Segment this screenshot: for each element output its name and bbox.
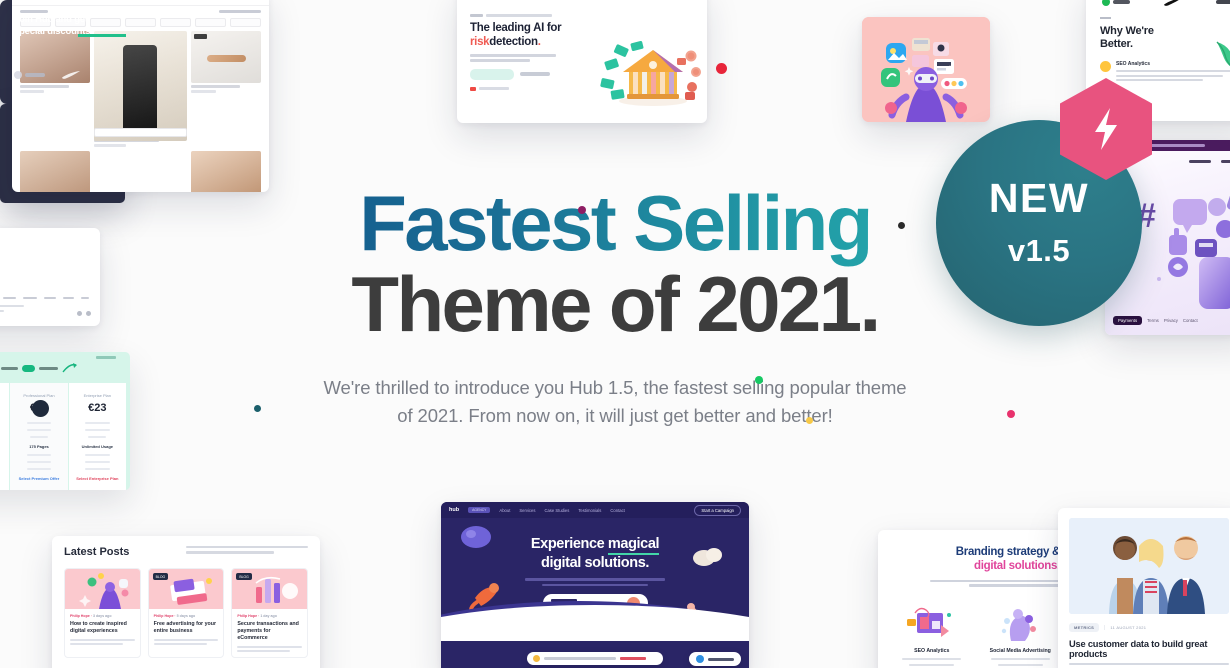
plan-cta[interactable]: Select xyxy=(0,476,3,481)
fashion-product-grid[interactable] xyxy=(12,31,269,192)
ai-eyebrow xyxy=(470,14,694,17)
headline-line-1: Fastest Selling xyxy=(359,179,871,267)
dot-magenta xyxy=(578,206,586,214)
team-3d-illustration xyxy=(1069,518,1229,614)
hero-stage: M A R C H E T xyxy=(0,0,1230,668)
magic-nav-item[interactable]: Services xyxy=(519,508,535,513)
ai-secondary-button[interactable] xyxy=(520,72,550,76)
blog-card-tag: BLOG xyxy=(236,573,251,580)
vr-3d-illustration xyxy=(862,17,990,122)
brand-inner: Branding strategy & digital solutions. xyxy=(878,530,1074,666)
product-card[interactable] xyxy=(20,31,90,147)
magic-blob-icon xyxy=(459,524,493,550)
blog-card-body: Philip Hope · 3 days ago How to create i… xyxy=(65,609,140,650)
dot-yellow xyxy=(806,417,813,424)
magical-digital-solutions-mockup[interactable]: hub AGENCY About Services Case Studies T… xyxy=(441,502,749,668)
blog-card-tag: BLOG xyxy=(153,573,168,580)
vr-pink-card-mockup[interactable] xyxy=(862,17,990,122)
plan-cta[interactable]: Select Premium Offer xyxy=(16,476,61,481)
ai-risk-detection-mockup[interactable]: The leading AI for riskdetection. xyxy=(457,0,707,123)
blog-card[interactable]: Philip Hope · 3 days ago How to create i… xyxy=(64,568,141,658)
product-card-featured[interactable] xyxy=(94,31,188,147)
brand-body xyxy=(930,580,1060,587)
blog-illustration-1 xyxy=(65,569,141,609)
social-hand-illustration xyxy=(981,605,1061,643)
customer-card-date: 11 AUGUST 2021 xyxy=(1110,625,1146,630)
brand-card-title: SEO Analytics xyxy=(892,648,972,654)
blog-card-image: BLOG xyxy=(149,569,224,609)
ai-hero: The leading AI for riskdetection. xyxy=(457,14,707,123)
customer-data-blog-card-mockup[interactable]: METRICS | 11 AUGUST 2021 Use customer da… xyxy=(1058,508,1230,668)
filter-chip[interactable] xyxy=(230,18,261,27)
nike-logo-icon xyxy=(1163,0,1183,6)
seo-chart-illustration xyxy=(892,605,972,643)
why-feature: SEO Analytics xyxy=(1086,51,1230,81)
blog-card-title: Secure transactions and payments for eCo… xyxy=(237,621,302,642)
hero-subtitle: We're thrilled to introduce you Hub 1.5,… xyxy=(0,374,1230,430)
dot-pink xyxy=(1007,410,1015,418)
lightning-bolt-icon xyxy=(1089,106,1123,152)
blog-card-list[interactable]: Philip Hope · 3 days ago How to create i… xyxy=(52,558,320,658)
fashion-filterbar xyxy=(12,6,269,13)
blog-card-title: Free advertising for your entire busines… xyxy=(154,621,219,635)
latest-blog-posts-mockup[interactable]: Latest Posts xyxy=(52,536,320,668)
magic-logo[interactable]: hub xyxy=(449,507,459,513)
brand-card-list[interactable]: SEO Analytics Social Me xyxy=(892,605,1060,666)
magic-hero: Experience magical digital solutions. xyxy=(441,518,749,641)
join-logo-row xyxy=(14,71,126,79)
ai-body xyxy=(470,54,556,62)
badge-new-label: NEW xyxy=(989,178,1089,219)
magic-nav-item[interactable]: Contact xyxy=(610,508,624,513)
blog-title: Latest Posts xyxy=(64,546,129,558)
subtitle-line-1: We're thrilled to introduce you Hub 1.5,… xyxy=(324,377,907,398)
subtitle-line-2: of 2021. From now on, it will just get b… xyxy=(397,405,832,426)
magic-nav-item[interactable]: Testimonials xyxy=(578,508,601,513)
filter-chip[interactable] xyxy=(90,18,121,27)
dot-teal xyxy=(254,405,261,412)
blog-card[interactable]: BLOG Philip Hope · 5 days ago Free adver… xyxy=(148,568,225,658)
plan-feature: Unlimited Usage xyxy=(75,444,120,449)
plan-feature: 1 Website xyxy=(0,444,3,449)
why-title: Why We'reBetter. xyxy=(1086,25,1230,51)
magic-nav-button[interactable]: Start a Campaign xyxy=(694,505,741,516)
magic-cloud-icon xyxy=(691,542,725,568)
new-version-badge[interactable]: NEW v1.5 xyxy=(936,120,1142,326)
dot-red xyxy=(716,63,727,74)
customer-card-image xyxy=(1069,518,1229,614)
bank-3d-illustration xyxy=(599,38,703,112)
join-title: Join Hub and getspecial discounts xyxy=(14,14,90,38)
fashion-brand: M A R C H E T xyxy=(134,0,176,1)
blog-intro xyxy=(186,546,308,558)
magic-cookie-banner[interactable] xyxy=(527,652,663,665)
ai-primary-button[interactable] xyxy=(470,69,514,80)
blog-card-body: Philip Hope · 5 days ago Free advertisin… xyxy=(149,609,224,650)
plan-cta[interactable]: Select Enterprise Plan xyxy=(75,476,120,481)
nike-logo-icon xyxy=(61,71,81,79)
seo-analytics-icon xyxy=(1100,61,1111,72)
join-underline xyxy=(78,34,126,37)
filter-chip[interactable] xyxy=(160,18,191,27)
filter-chip[interactable] xyxy=(125,18,156,27)
customer-card-meta: METRICS | 11 AUGUST 2021 xyxy=(1069,623,1229,632)
magic-navbar[interactable]: hub AGENCY About Services Case Studies T… xyxy=(441,502,749,518)
magic-logo-badge: AGENCY xyxy=(468,507,490,513)
filter-chip[interactable] xyxy=(195,18,226,27)
blog-card-title: How to create inspired digital experienc… xyxy=(70,621,135,635)
blog-card-body: Philip Hope · 1 day ago Secure transacti… xyxy=(232,609,307,657)
blog-card[interactable]: BLOG Philip Hope · 1 day ago Secure tran… xyxy=(231,568,308,658)
green-3d-shape-icon xyxy=(1212,40,1230,70)
magic-nav-item[interactable]: About xyxy=(499,508,510,513)
dot-green xyxy=(755,376,763,384)
brand-card-social[interactable]: Social Media Advertising xyxy=(981,605,1061,666)
brand-card-title: Social Media Advertising xyxy=(981,648,1061,654)
why-dash xyxy=(1100,17,1111,19)
plan-feature: 175 Pages xyxy=(16,444,61,449)
magic-contact-button[interactable] xyxy=(689,652,741,666)
brand-card-seo[interactable]: SEO Analytics xyxy=(892,605,972,666)
branding-strategy-mockup[interactable]: Branding strategy & digital solutions. xyxy=(878,530,1074,668)
customer-card-title: Use customer data to build great product… xyxy=(1069,639,1229,659)
dot-dark xyxy=(898,222,905,229)
brand-title: Branding strategy & digital solutions. xyxy=(892,546,1060,574)
blog-card-image xyxy=(65,569,140,609)
customer-card-tag: METRICS xyxy=(1069,623,1099,632)
customer-card-body xyxy=(1069,663,1229,668)
ai-title-accent: risk xyxy=(470,36,489,48)
why-logo-row xyxy=(1086,0,1230,12)
blog-header: Latest Posts xyxy=(52,536,320,558)
magic-body xyxy=(525,578,665,586)
product-card[interactable] xyxy=(191,31,261,147)
blog-card-image: BLOG xyxy=(232,569,307,609)
magic-nav-item[interactable]: Case Studies xyxy=(544,508,569,513)
badge-version-label: v1.5 xyxy=(1008,233,1070,269)
